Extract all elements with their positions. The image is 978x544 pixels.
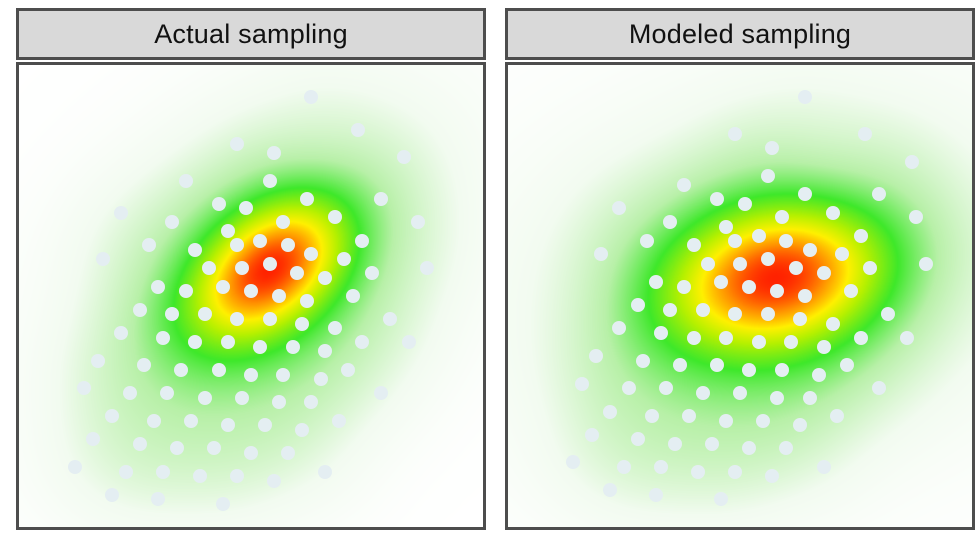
panel-title-modeled: Modeled sampling: [629, 21, 851, 48]
plot-area-actual: [16, 62, 486, 530]
panel-header-modeled: Modeled sampling: [505, 8, 975, 60]
panel-title-actual: Actual sampling: [154, 21, 348, 48]
panel-actual-sampling: Actual sampling: [16, 8, 486, 530]
plot-area-modeled: [505, 62, 975, 530]
figure-root: Actual sampling Modeled sampling: [0, 0, 978, 544]
panel-header-actual: Actual sampling: [16, 8, 486, 60]
panel-modeled-sampling: Modeled sampling: [505, 8, 975, 530]
density-heatmap-actual: [19, 65, 483, 527]
density-heatmap-modeled: [508, 65, 972, 527]
